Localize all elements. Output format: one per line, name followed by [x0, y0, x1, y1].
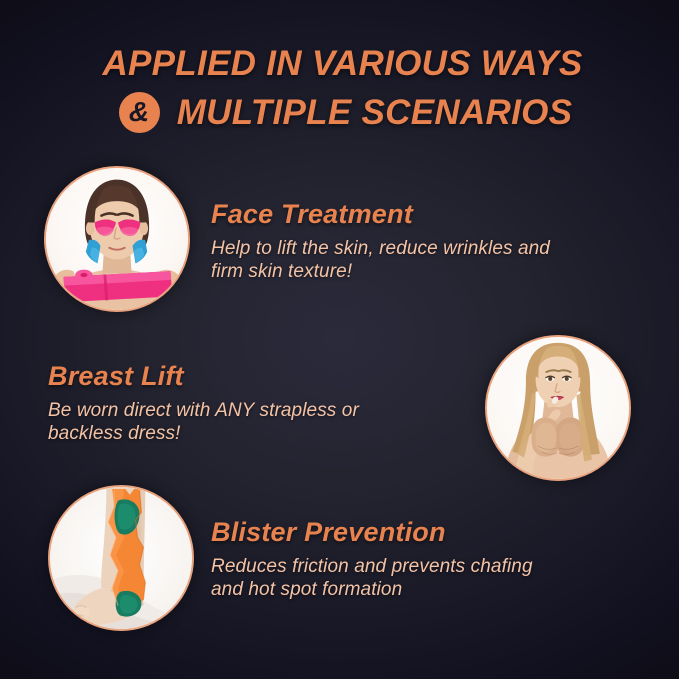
section-title-face: Face Treatment: [211, 200, 550, 230]
face-tape-photo: [44, 166, 190, 312]
section-breast-lift: Breast Lift Be worn direct with ANY stra…: [48, 362, 359, 445]
ampersand-badge-icon: &: [119, 92, 160, 133]
breast-lift-illustration: [487, 337, 629, 479]
blister-tape-photo: [48, 485, 194, 631]
section-desc-face-line-1: Help to lift the skin, reduce wrinkles a…: [211, 237, 550, 260]
page-title: APPLIED IN VARIOUS WAYS & MULTIPLE SCENA…: [0, 46, 679, 133]
section-blister-prevention: Blister Prevention Reduces friction and …: [211, 518, 533, 601]
title-line-2-text: MULTIPLE SCENARIOS: [177, 95, 573, 130]
section-title-blister: Blister Prevention: [211, 518, 533, 548]
section-face-treatment: Face Treatment Help to lift the skin, re…: [211, 200, 550, 283]
section-desc-face-line-2: firm skin texture!: [211, 260, 550, 283]
promo-poster: APPLIED IN VARIOUS WAYS & MULTIPLE SCENA…: [0, 0, 679, 679]
title-line-2: & MULTIPLE SCENARIOS: [0, 92, 679, 133]
section-desc-blister-line-2: and hot spot formation: [211, 578, 533, 601]
title-line-1: APPLIED IN VARIOUS WAYS: [0, 46, 679, 81]
section-title-breast: Breast Lift: [48, 362, 359, 392]
section-desc-breast-line-1: Be worn direct with ANY strapless or: [48, 399, 359, 422]
blister-tape-illustration: [50, 487, 192, 629]
section-desc-breast: Be worn direct with ANY strapless or bac…: [48, 399, 359, 445]
section-desc-breast-line-2: backless dress!: [48, 422, 359, 445]
section-desc-face: Help to lift the skin, reduce wrinkles a…: [211, 237, 550, 283]
section-desc-blister-line-1: Reduces friction and prevents chafing: [211, 555, 533, 578]
face-tape-illustration: [46, 168, 188, 310]
breast-lift-photo: [485, 335, 631, 481]
section-desc-blister: Reduces friction and prevents chafing an…: [211, 555, 533, 601]
